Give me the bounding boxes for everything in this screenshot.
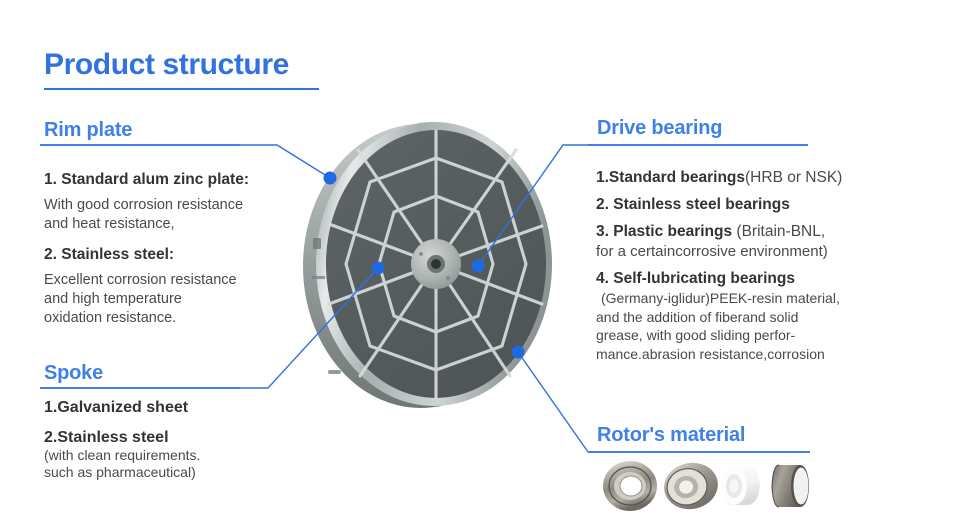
rotor-material-bearing-photos xyxy=(601,455,821,517)
rim-plate-item-2-line-2: and high temperature xyxy=(44,290,344,309)
drive-bearing-item-1-title: 1.Standard bearings xyxy=(596,169,745,186)
bearing-photo-sleeve-bushing xyxy=(772,465,809,507)
product-structure-infographic: Product structure xyxy=(0,0,953,531)
spoke-item-2-line-2: such as pharmaceutical) xyxy=(44,464,344,481)
bearing-photos-svg xyxy=(601,455,821,517)
rim-plate-item-1-line-2: and heat resistance, xyxy=(44,215,344,234)
drive-bearing-item-4-line-1: (Germany-iglidur)PEEK-resin material, xyxy=(596,289,946,308)
rim-plate-item-2-line-1: Excellent corrosion resistance xyxy=(44,271,344,290)
rotor-hub xyxy=(411,239,461,289)
section-underline-rotor-material xyxy=(588,451,810,453)
rim-plate-item-1-title: 1. Standard alum zinc plate: xyxy=(44,170,344,189)
rim-plate-item-2-line-3: oxidation resistance. xyxy=(44,309,344,328)
spoke-item-2-title: 2.Stainless steel xyxy=(44,428,344,447)
rim-plate-body: 1. Standard alum zinc plate: With good c… xyxy=(44,170,344,328)
section-heading-rotor-material: Rotor's material xyxy=(597,425,745,445)
rim-plate-item-2-title: 2. Stainless steel: xyxy=(44,245,344,264)
bearing-photo-plastic-white xyxy=(721,467,760,505)
section-heading-drive-bearing: Drive bearing xyxy=(597,118,722,138)
drive-bearing-item-4-line-2: and the addition of fiberand solid xyxy=(596,308,946,327)
bearing-photo-steel-small xyxy=(660,458,722,514)
drive-bearing-item-3-trail: (Britain-BNL, xyxy=(732,223,825,240)
section-heading-rim-plate: Rim plate xyxy=(44,120,132,140)
drive-bearing-item-3-line-1: for a certaincorrosive environment) xyxy=(596,242,946,262)
page-title-underline xyxy=(44,88,319,90)
section-heading-spoke: Spoke xyxy=(44,363,103,383)
drive-bearing-item-3-title: 3. Plastic bearings xyxy=(596,223,732,240)
drive-bearing-item-2-title: 2. Stainless steel bearings xyxy=(596,196,790,213)
section-underline-drive-bearing xyxy=(588,144,808,146)
spoke-item-2-line-1: (with clean requirements. xyxy=(44,447,344,464)
spoke-body: 1.Galvanized sheet 2.Stainless steel (wi… xyxy=(44,398,344,481)
section-underline-spoke xyxy=(40,387,240,389)
drive-bearing-item-1-trail: (HRB or NSK) xyxy=(745,169,842,186)
drive-bearing-item-4-line-4: mance.abrasion resistance,corrosion xyxy=(596,345,946,364)
drive-bearing-item-4-line-3: grease, with good sliding perfor- xyxy=(596,326,946,345)
bearing-photo-steel-large xyxy=(603,461,657,511)
drive-bearing-body: 1.Standard bearings(HRB or NSK) 2. Stain… xyxy=(596,168,946,363)
rim-plate-item-1-line-1: With good corrosion resistance xyxy=(44,196,344,215)
spoke-item-1-title: 1.Galvanized sheet xyxy=(44,398,344,417)
page-title: Product structure xyxy=(44,50,289,80)
drive-bearing-item-4-title: 4. Self-lubricating bearings xyxy=(596,270,795,287)
section-underline-rim-plate xyxy=(40,144,240,146)
